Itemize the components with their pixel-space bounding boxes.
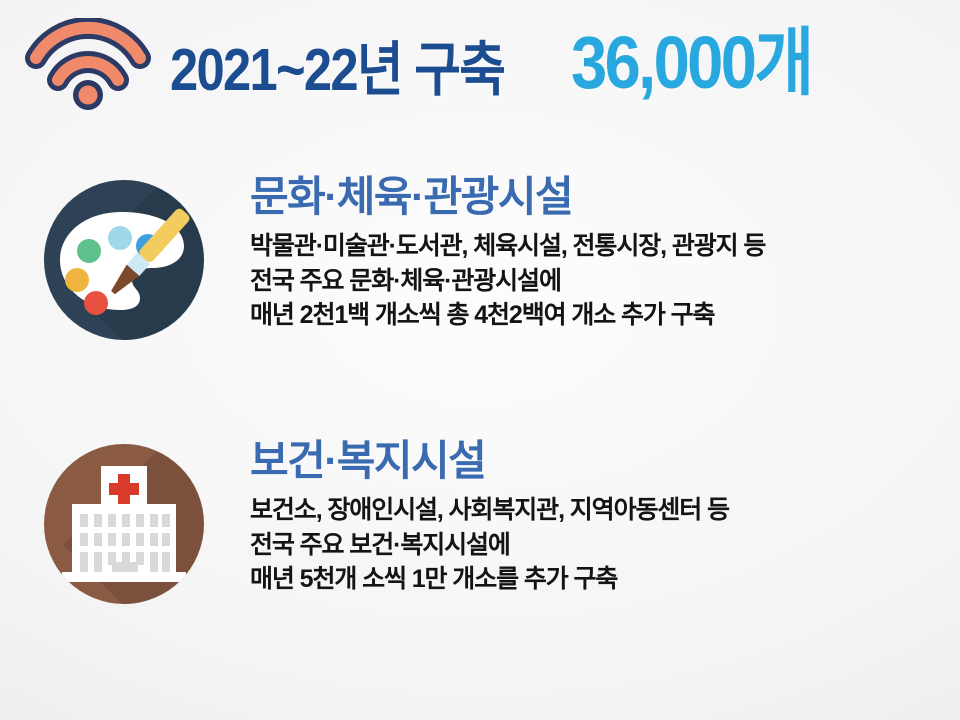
section-health-heading: 보건·복지시설 [250, 438, 960, 483]
palette-icon [44, 180, 204, 340]
hospital-icon [44, 444, 204, 604]
palette-icon-circle [44, 180, 204, 340]
section-culture: 문화·체육·관광시설 박물관·미술관·도서관, 체육시설, 전통시장, 관광지 … [0, 172, 960, 344]
body-line: 매년 5천개 소씩 1만 개소를 추가 구축 [250, 562, 960, 596]
body-line: 박물관·미술관·도서관, 체육시설, 전통시장, 관광지 등 [250, 229, 960, 263]
slide-root: 2021~22년 구축 36,000개 [0, 0, 960, 720]
section-health: 보건·복지시설 보건소, 장애인시설, 사회복지관, 지역아동센터 등 전국 주… [0, 436, 960, 608]
section-culture-body: 박물관·미술관·도서관, 체육시설, 전통시장, 관광지 등 전국 주요 문화·… [250, 229, 960, 332]
hospital-icon-circle [44, 444, 204, 604]
wifi-icon [22, 18, 154, 110]
header-title: 2021~22년 구축 36,000개 [170, 26, 844, 100]
header: 2021~22년 구축 36,000개 [0, 0, 960, 132]
hospital-icon-wrap [42, 436, 206, 608]
body-line: 매년 2천1백 개소씩 총 4천2백여 개소 추가 구축 [250, 298, 960, 332]
section-health-body: 보건소, 장애인시설, 사회복지관, 지역아동센터 등 전국 주요 보건·복지시… [250, 493, 960, 596]
body-line: 전국 주요 문화·체육·관광시설에 [250, 264, 960, 298]
body-line: 보건소, 장애인시설, 사회복지관, 지역아동센터 등 [250, 493, 960, 527]
section-culture-text: 문화·체육·관광시설 박물관·미술관·도서관, 체육시설, 전통시장, 관광지 … [250, 172, 960, 332]
section-culture-heading: 문화·체육·관광시설 [250, 174, 960, 219]
section-health-text: 보건·복지시설 보건소, 장애인시설, 사회복지관, 지역아동센터 등 전국 주… [250, 436, 960, 596]
palette-icon-wrap [42, 172, 206, 344]
body-line: 전국 주요 보건·복지시설에 [250, 528, 960, 562]
header-period-label: 2021~22년 구축 [170, 41, 504, 100]
header-count-label: 36,000개 [571, 26, 812, 100]
